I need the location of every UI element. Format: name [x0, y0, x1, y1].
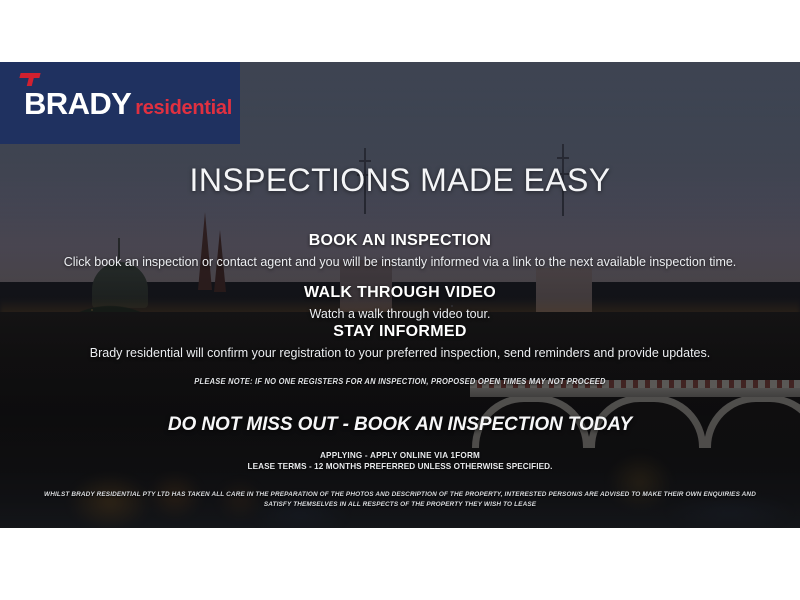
- brady-flag-icon: [20, 73, 40, 86]
- page-headline: INSPECTIONS MADE EASY: [0, 162, 800, 199]
- flag-stem: [27, 76, 34, 86]
- section-stay-informed: STAY INFORMED Brady residential will con…: [0, 323, 800, 362]
- brady-residential-logo[interactable]: BRADY residential: [0, 62, 240, 144]
- please-note-text: PLEASE NOTE: IF NO ONE REGISTERS FOR AN …: [24, 377, 776, 386]
- section-walk-through-video: WALK THROUGH VIDEO Watch a walk through …: [0, 284, 800, 323]
- call-to-action-text: DO NOT MISS OUT - BOOK AN INSPECTION TOD…: [0, 414, 800, 436]
- page-root: BRADY residential INSPECTIONS MADE EASY …: [0, 0, 800, 600]
- logo-lockup: BRADY residential: [24, 88, 232, 119]
- section-body: Brady residential will confirm your regi…: [0, 345, 800, 362]
- section-body: Click book an inspection or contact agen…: [0, 254, 800, 271]
- section-title: STAY INFORMED: [0, 323, 800, 341]
- section-title: WALK THROUGH VIDEO: [0, 284, 800, 302]
- lease-terms-line: LEASE TERMS - 12 MONTHS PREFERRED UNLESS…: [16, 461, 784, 471]
- section-body: Watch a walk through video tour.: [0, 306, 800, 323]
- applying-line: APPLYING - APPLY ONLINE VIA 1FORM: [16, 450, 784, 460]
- section-title: BOOK AN INSPECTION: [0, 232, 800, 250]
- inspection-banner: BRADY residential INSPECTIONS MADE EASY …: [0, 62, 800, 528]
- logo-text-brady: BRADY: [24, 88, 131, 119]
- logo-text-residential: residential: [135, 98, 232, 118]
- legal-disclaimer: WHILST BRADY RESIDENTIAL PTY LTD HAS TAK…: [33, 490, 766, 510]
- section-book-an-inspection: BOOK AN INSPECTION Click book an inspect…: [0, 232, 800, 271]
